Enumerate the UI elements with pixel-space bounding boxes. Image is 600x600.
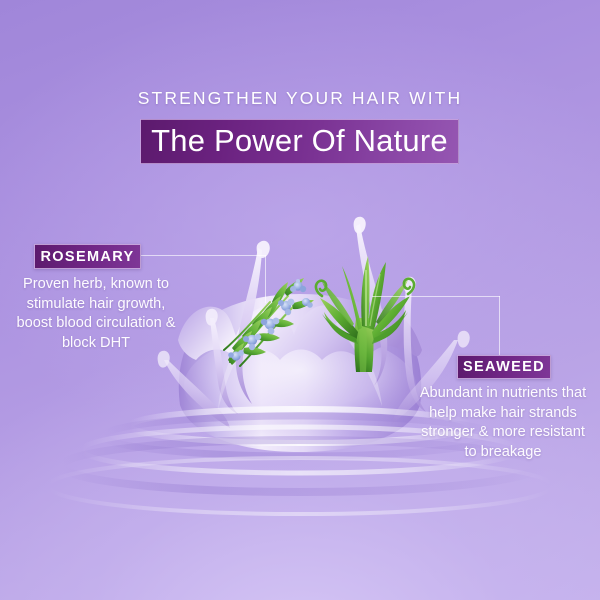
callout-tag-seaweed: SEAWEED [457,355,551,379]
connector-line-seaweed-vertical [499,296,500,356]
callout-text-line: boost blood circulation & [6,314,186,334]
callout-text-line: help make hair strands [412,404,594,424]
callout-tag-rosemary: ROSEMARY [34,244,141,269]
callout-text-line: stimulate hair growth, [6,295,186,315]
headline-banner-title: The Power Of Nature [151,123,448,159]
rosemary-plant-illustration [214,262,324,374]
seaweed-plant-illustration [312,248,416,372]
connector-line-seaweed-horizontal [372,296,500,297]
connector-line-rosemary-horizontal [141,255,266,256]
callout-text-line: Abundant in nutrients that [412,384,594,404]
poster-canvas: STRENGTHEN YOUR HAIR WITH The Power Of N… [0,0,600,600]
callout-text-seaweed: Abundant in nutrients that help make hai… [412,384,594,462]
callout-text-rosemary: Proven herb, known to stimulate hair gro… [6,275,186,353]
callout-tag-seaweed-label: SEAWEED [463,359,545,375]
callout-text-line: Proven herb, known to [6,275,186,295]
headline-banner: The Power Of Nature [140,119,459,164]
connector-line-rosemary-vertical [265,255,266,303]
callout-text-line: to breakage [412,443,594,463]
callout-text-line: block DHT [6,334,186,354]
callout-tag-rosemary-label: ROSEMARY [40,249,134,265]
callout-text-line: stronger & more resistant [412,423,594,443]
headline-kicker: STRENGTHEN YOUR HAIR WITH [0,88,600,109]
